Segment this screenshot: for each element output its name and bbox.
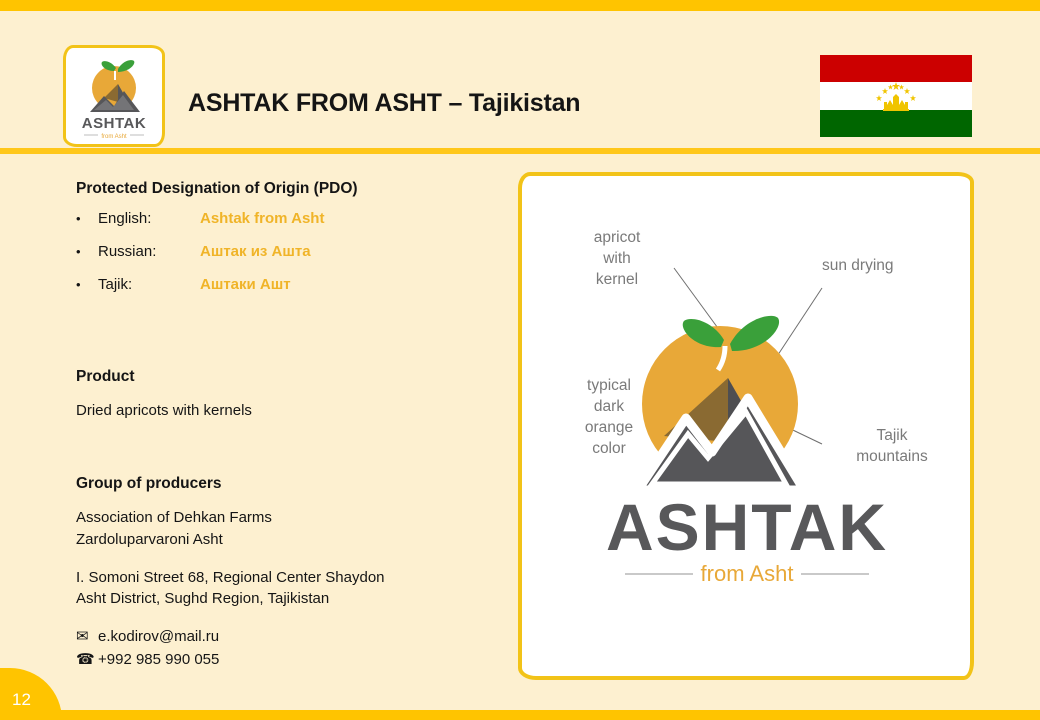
annotation-apricot-with-kernel: apricot with kernel [558, 228, 676, 291]
product-block: Product Dried apricots with kernels [76, 368, 506, 422]
svg-text:ASHTAK: ASHTAK [82, 115, 146, 132]
pdo-name-value: Ashtak from Asht [200, 210, 324, 227]
ashtak-wordmark: ASHTAK from Asht [597, 488, 897, 598]
producers-address-line1: I. Somoni Street 68, Regional Center Sha… [76, 569, 385, 586]
wordmark-text: ASHTAK [606, 490, 888, 564]
pdo-row-russian: • Russian: Аштак из Ашта [76, 243, 501, 260]
envelope-icon: ✉ [76, 626, 98, 649]
bullet-icon: • [76, 278, 98, 291]
pdo-row-tajik: • Tajik: Аштаки Ашт [76, 276, 501, 293]
producers-email[interactable]: e.kodirov@mail.ru [98, 628, 219, 645]
svg-text:from Asht: from Asht [101, 134, 127, 140]
producers-heading: Group of producers [76, 475, 516, 493]
slide: ASHTAK from Asht ASHTAK FROM ASHT – Taji… [0, 0, 1040, 720]
ashtak-logo-graphic [608, 294, 838, 494]
page-number: 12 [12, 690, 31, 710]
pdo-language-label: Russian: [98, 243, 200, 260]
pdo-name-value: Аштаки Ашт [200, 276, 291, 293]
producers-phone[interactable]: +992 985 990 055 [98, 651, 219, 668]
producers-organisation: Association of Dehkan Farms Zardoluparva… [76, 507, 516, 551]
top-accent-bar [0, 0, 1040, 11]
wordmark-tagline: from Asht [701, 561, 794, 586]
bullet-icon: • [76, 245, 98, 258]
pdo-language-label: Tajik: [98, 276, 200, 293]
pdo-row-english: • English: Ashtak from Asht [76, 210, 501, 227]
producers-organisation-line2: Zardoluparvaroni Asht [76, 531, 223, 548]
annotation-tajik-mountains: Tajik mountains [822, 426, 962, 468]
producers-email-row[interactable]: ✉e.kodirov@mail.ru [76, 626, 516, 649]
producers-phone-row[interactable]: ☎+992 985 990 055 [76, 649, 516, 672]
bottom-accent-bar [0, 710, 1040, 720]
pdo-language-label: English: [98, 210, 200, 227]
header-logo-badge: ASHTAK from Asht [63, 45, 165, 147]
logo-explanation-panel: apricot with kernel sun drying typical d… [518, 172, 974, 680]
ashtak-logo-icon: ASHTAK from Asht [66, 48, 162, 144]
flag-band-green [820, 110, 972, 137]
telephone-icon: ☎ [76, 649, 98, 672]
flag-crown-emblem-icon [870, 81, 922, 111]
slide-header: ASHTAK from Asht ASHTAK FROM ASHT – Taji… [0, 11, 1040, 148]
header-divider [0, 148, 1040, 154]
product-description: Dried apricots with kernels [76, 400, 506, 422]
pdo-heading: Protected Designation of Origin (PDO) [76, 180, 501, 198]
bullet-icon: • [76, 212, 98, 225]
annotation-sun-drying: sun drying [822, 256, 962, 277]
pdo-name-value: Аштак из Ашта [200, 243, 311, 260]
pdo-block: Protected Designation of Origin (PDO) • … [76, 180, 501, 309]
product-heading: Product [76, 368, 506, 386]
producers-address-line2: Asht District, Sughd Region, Tajikistan [76, 590, 329, 607]
flag-band-red [820, 55, 972, 82]
tajikistan-flag-icon [820, 55, 972, 137]
page-title: ASHTAK FROM ASHT – Tajikistan [188, 89, 580, 118]
logo-diagram: apricot with kernel sun drying typical d… [522, 176, 978, 684]
producers-address: I. Somoni Street 68, Regional Center Sha… [76, 567, 516, 611]
producers-organisation-line1: Association of Dehkan Farms [76, 509, 272, 526]
producers-block: Group of producers Association of Dehkan… [76, 475, 516, 671]
